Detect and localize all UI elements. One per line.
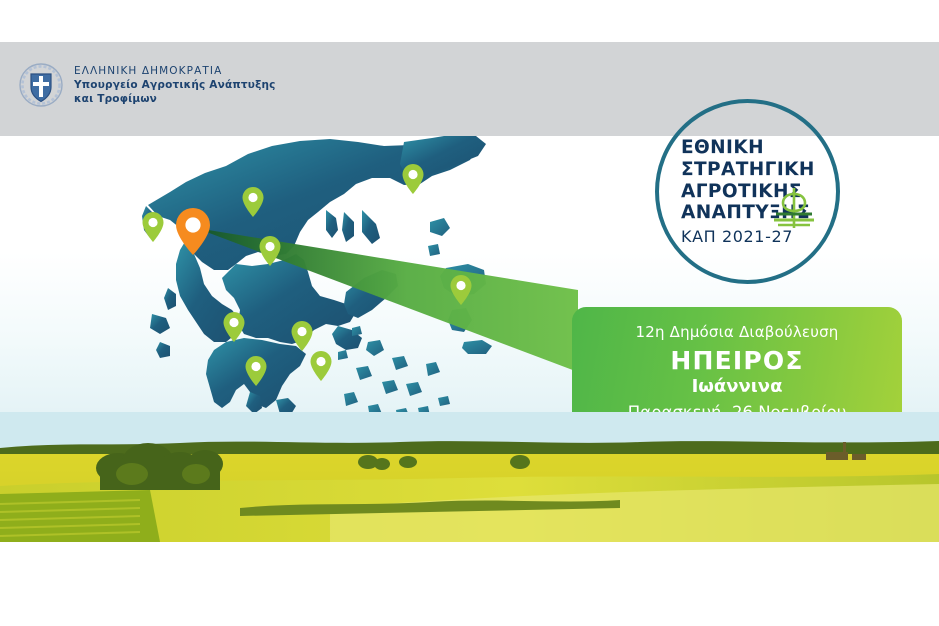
- ministry-logo-lockup: ΕΛΛΗΝΙΚΗ ΔΗΜΟΚΡΑΤΙΑ Υπουργείο Αγροτικής …: [18, 62, 276, 108]
- sprout-icon: [766, 180, 822, 236]
- badge-line-1: ΕΘΝΙΚΗ: [681, 137, 836, 159]
- farm-field-illustration: [0, 412, 939, 542]
- greek-coat-of-arms-icon: [18, 62, 64, 108]
- org-line-2: Υπουργείο Αγροτικής Ανάπτυξης: [74, 79, 276, 93]
- event-region: ΗΠΕΙΡΟΣ: [572, 346, 902, 375]
- event-subtitle: 12η Δημόσια Διαβούλευση: [572, 323, 902, 341]
- org-line-1: ΕΛΛΗΝΙΚΗ ΔΗΜΟΚΡΑΤΙΑ: [74, 65, 276, 79]
- event-city: Ιωάννινα: [572, 376, 902, 397]
- artwork-frame: ΕΛΛΗΝΙΚΗ ΔΗΜΟΚΡΑΤΙΑ Υπουργείο Αγροτικής …: [0, 42, 939, 542]
- poster-root: ΕΛΛΗΝΙΚΗ ΔΗΜΟΚΡΑΤΙΑ Υπουργείο Αγροτικής …: [0, 0, 939, 626]
- org-line-3: και Τροφίμων: [74, 93, 276, 107]
- badge-line-2: ΣΤΡΑΤΗΓΙΚΗ: [681, 159, 836, 181]
- ministry-text-block: ΕΛΛΗΝΙΚΗ ΔΗΜΟΚΡΑΤΙΑ Υπουργείο Αγροτικής …: [74, 62, 276, 107]
- esa-badge: ΕΘΝΙΚΗ ΣΤΡΑΤΗΓΙΚΗ ΑΓΡΟΤΙΚΗΣ ΑΝΑΠΤΥΞΗΣ ΚΑ…: [655, 99, 840, 284]
